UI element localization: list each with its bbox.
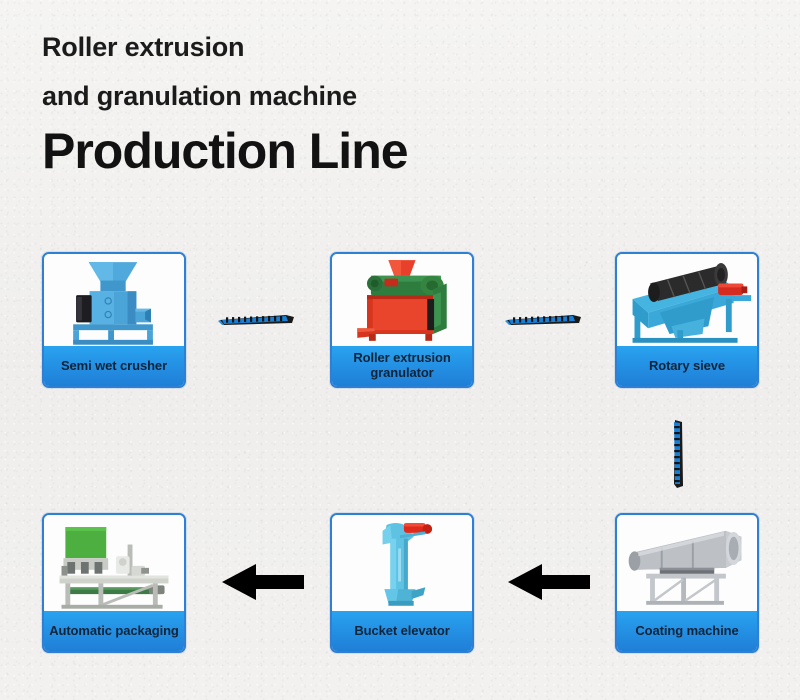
- card-figure: [617, 515, 757, 611]
- conveyor-belt-horizontal-icon: [218, 313, 294, 326]
- card-figure: [617, 254, 757, 346]
- label-line-1: Roller extrusion: [353, 350, 450, 365]
- flow-card-automatic-packaging[interactable]: Automatic packaging: [42, 513, 186, 653]
- label-line-2: granulator: [370, 365, 433, 380]
- flow-arrow-left-1: [222, 562, 304, 602]
- card-label-rotary-sieve: Rotary sieve: [617, 346, 757, 386]
- page-title-block: Roller extrusion and granulation machine…: [42, 34, 408, 176]
- conveyor-belt-connector-vertical: [672, 418, 685, 490]
- flow-arrow-left-2: [508, 562, 590, 602]
- subtitle-line-1: Roller extrusion: [42, 34, 408, 61]
- conveyor-belt-connector-2: [505, 313, 581, 326]
- card-label-roller-extrusion-granulator: Roller extrusion granulator: [332, 346, 472, 386]
- card-label-coating-machine: Coating machine: [617, 611, 757, 651]
- conveyor-belt-vertical-icon: [672, 418, 685, 490]
- page-title: Production Line: [42, 126, 408, 176]
- crusher-machine-icon: [44, 254, 184, 346]
- coating-machine-icon: [617, 515, 757, 611]
- arrow-left-icon: [508, 562, 590, 602]
- flow-card-rotary-sieve[interactable]: Rotary sieve: [615, 252, 759, 388]
- card-figure: [332, 254, 472, 346]
- card-figure: [332, 515, 472, 611]
- flow-card-coating-machine[interactable]: Coating machine: [615, 513, 759, 653]
- subtitle-line-2: and granulation machine: [42, 83, 408, 110]
- card-figure: [44, 515, 184, 611]
- conveyor-belt-horizontal-icon: [505, 313, 581, 326]
- bucket-elevator-machine-icon: [332, 515, 472, 611]
- card-label-semi-wet-crusher: Semi wet crusher: [44, 346, 184, 386]
- flow-card-roller-extrusion-granulator[interactable]: Roller extrusion granulator: [330, 252, 474, 388]
- flow-card-semi-wet-crusher[interactable]: Semi wet crusher: [42, 252, 186, 388]
- card-label-bucket-elevator: Bucket elevator: [332, 611, 472, 651]
- flow-card-bucket-elevator[interactable]: Bucket elevator: [330, 513, 474, 653]
- arrow-left-icon: [222, 562, 304, 602]
- packaging-machine-icon: [44, 515, 184, 611]
- conveyor-belt-connector-1: [218, 313, 294, 326]
- card-label-automatic-packaging: Automatic packaging: [44, 611, 184, 651]
- card-figure: [44, 254, 184, 346]
- granulator-machine-icon: [332, 254, 472, 346]
- rotary-sieve-machine-icon: [617, 254, 757, 346]
